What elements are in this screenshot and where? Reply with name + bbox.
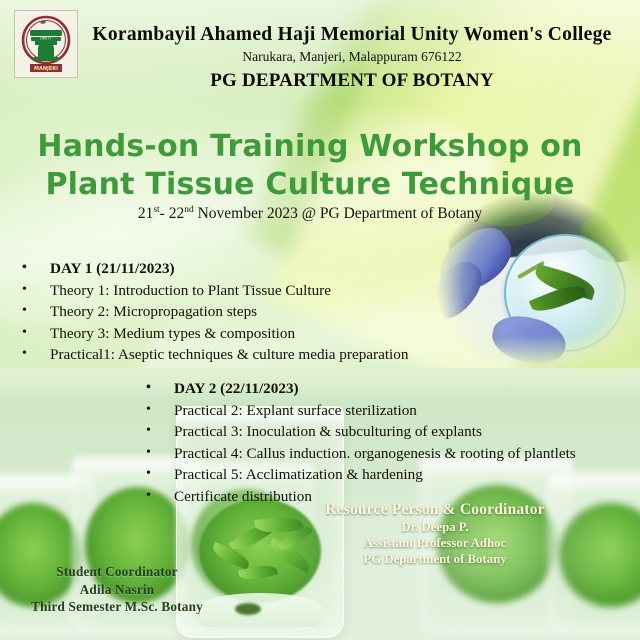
resource-person-name: Dr. Deepa P. <box>300 519 570 535</box>
day1-item: Theory 1: Introduction to Plant Tissue C… <box>22 280 408 302</box>
poster-title: Hands-on Training Workshop on Plant Tiss… <box>0 128 620 204</box>
date-sup-nd: nd <box>184 205 194 215</box>
title-line-1: Hands-on Training Workshop on <box>0 128 620 166</box>
date-separator: - 22 <box>160 205 185 222</box>
resource-person-designation: Assistant Professor Adhoc <box>300 535 570 551</box>
date-month-venue: November 2023 @ PG Department of Botany <box>194 205 482 222</box>
college-address: Narukara, Manjeri, Malappuram 676122 <box>80 49 624 65</box>
day1-item: Theory 3: Medium types & composition <box>22 323 408 345</box>
day2-item: Practical 2: Explant surface sterilizati… <box>146 400 576 422</box>
department-name: PG DEPARTMENT OF BOTANY <box>80 70 624 92</box>
college-logo: UNITY MANJERI <box>14 10 78 78</box>
day1-item: Theory 2: Micropropagation steps <box>22 301 408 323</box>
title-line-2: Plant Tissue Culture Technique <box>0 166 620 204</box>
day2-item: Practical 5: Acclimatization & hardening <box>146 464 576 486</box>
student-coordinator-name: Adila Nasrin <box>2 581 232 599</box>
day2-heading: DAY 2 (22/11/2023) <box>146 378 576 400</box>
college-crest-icon: UNITY MANJERI <box>18 14 74 74</box>
svg-text:UNITY: UNITY <box>40 36 53 41</box>
day2-item: Practical 4: Callus induction. organogen… <box>146 443 576 465</box>
event-date-venue: 21st- 22nd November 2023 @ PG Department… <box>0 205 620 223</box>
date-day1: 21 <box>138 205 154 222</box>
day2-schedule-list: DAY 2 (22/11/2023) Practical 2: Explant … <box>146 378 576 507</box>
day1-item: Practical1: Aseptic techniques & culture… <box>22 344 408 366</box>
student-coordinator-heading: Student Coordinator <box>2 563 232 581</box>
student-coordinator-course: Third Semester M.Sc. Botany <box>2 598 232 616</box>
day2-item: Practical 3: Inoculation & subculturing … <box>146 421 576 443</box>
college-name: Korambayil Ahamed Haji Memorial Unity Wo… <box>80 24 624 46</box>
resource-person-heading: Resource Person & Coordinator <box>300 500 570 519</box>
poster-canvas: UNITY MANJERI Korambayil Ahamed Haji Mem… <box>0 0 640 640</box>
resource-person-block: Resource Person & Coordinator Dr. Deepa … <box>300 500 570 567</box>
resource-person-department: PG Department of Botany <box>300 551 570 567</box>
logo-caption: MANJERI <box>34 66 58 72</box>
student-coordinator-block: Student Coordinator Adila Nasrin Third S… <box>2 563 232 616</box>
day1-heading: DAY 1 (21/11/2023) <box>22 258 408 280</box>
day1-schedule-list: DAY 1 (21/11/2023) Theory 1: Introductio… <box>22 258 408 366</box>
